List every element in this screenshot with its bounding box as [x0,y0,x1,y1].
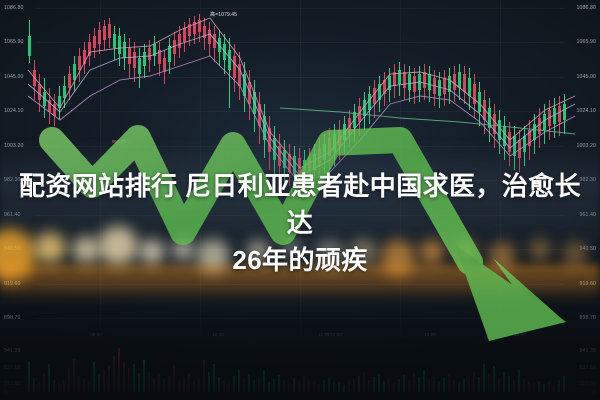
headline-line-2: 26年的顽疾 [6,242,594,279]
banner-stage: 1086.801065.901045.001024.101003.20982.3… [0,0,600,400]
headline: 配资网站排行 尼日利亚患者赴中国求医，治愈长达 26年的顽疾 [0,168,600,279]
headline-line-1: 配资网站排行 尼日利亚患者赴中国求医，治愈长达 [19,171,581,238]
